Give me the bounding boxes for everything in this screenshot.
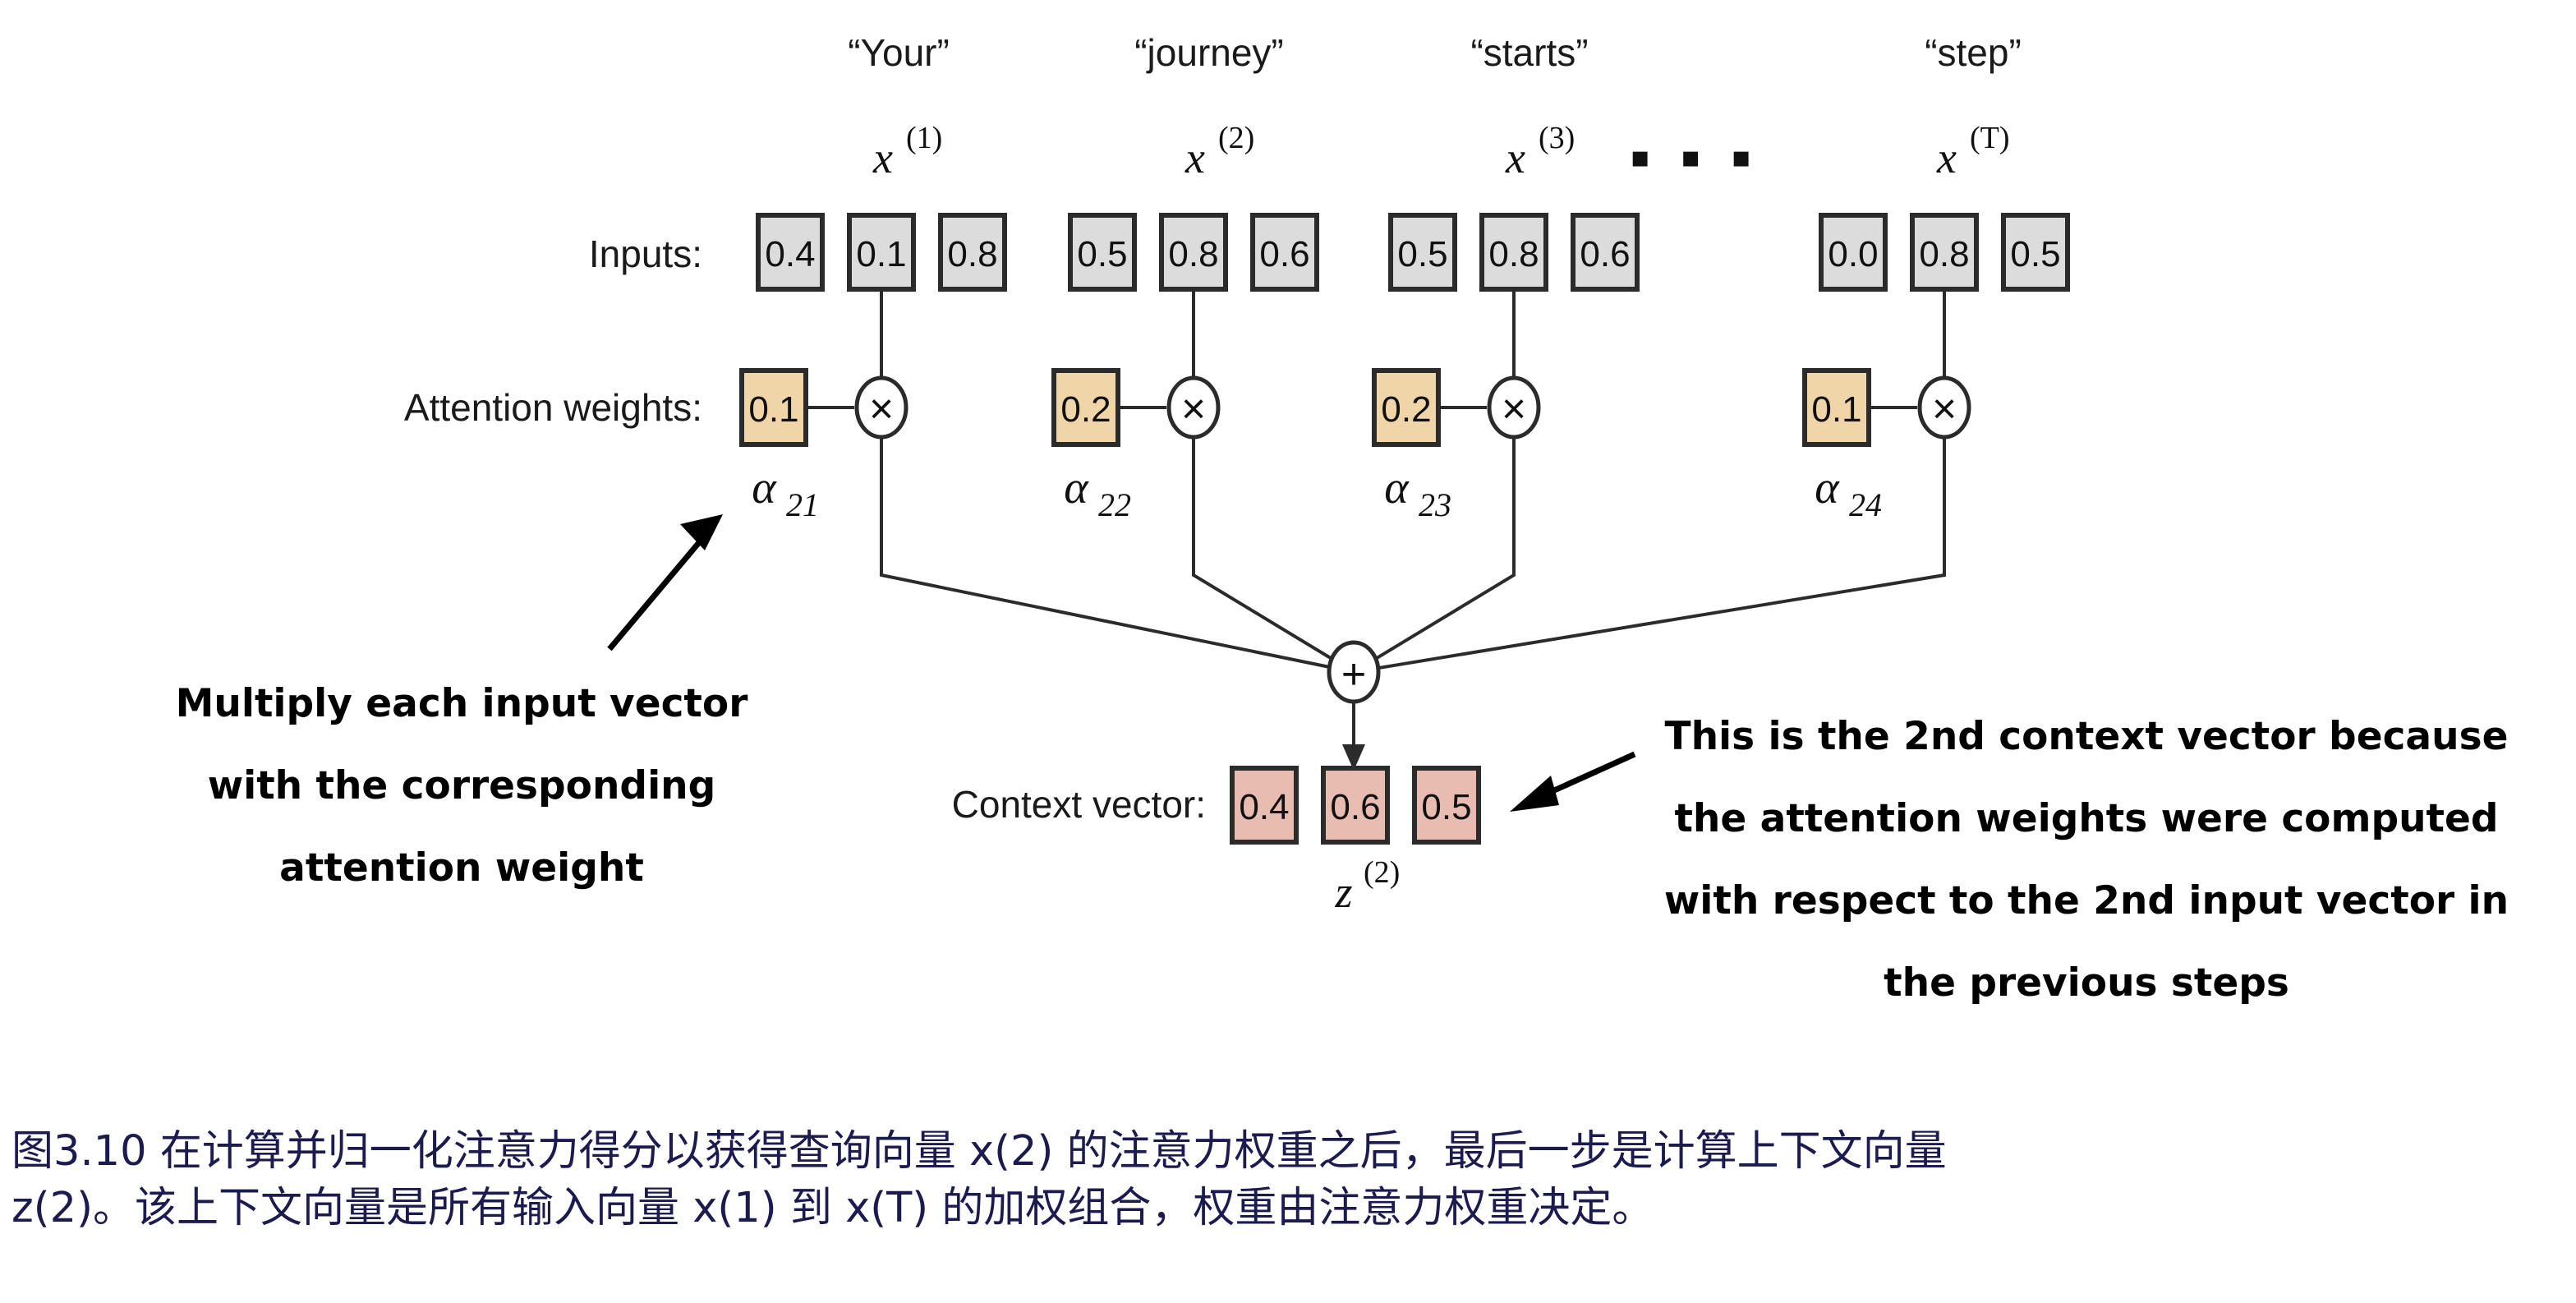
figure-caption: 图3.10 在计算并归一化注意力得分以获得查询向量 x(2) 的注意力权重之后，… [11, 1124, 2566, 1237]
annotation-left-line-2: with the corresponding [208, 763, 716, 808]
token-word-3: “starts” [1470, 31, 1588, 74]
sum-node: + [1329, 642, 1378, 702]
context-symbol-sup: (2) [1364, 855, 1400, 890]
context-cell-value: 0.5 [1421, 787, 1471, 827]
token-symbol-4: x (T) [1936, 121, 2010, 182]
token-symbol-letter-2: x [1184, 133, 1205, 182]
alpha-subscript: 24 [1849, 486, 1882, 523]
annotation-right-line-2: the attention weights were computed [1674, 796, 2498, 841]
caption-line-1: 图3.10 在计算并归一化注意力得分以获得查询向量 x(2) 的注意力权重之后，… [11, 1124, 2566, 1181]
attention-weight-value: 0.2 [1060, 389, 1111, 430]
attention-weight-value: 0.2 [1381, 389, 1431, 430]
token-symbol-letter-3: x [1505, 133, 1525, 182]
context-cell-value: 0.4 [1239, 787, 1289, 827]
alpha-symbol: α [752, 463, 777, 513]
multiply-symbol: × [1502, 385, 1526, 433]
token-word-4: “step” [1925, 31, 2022, 74]
input-vector-3: 0.5 0.8 0.6 [1391, 215, 1637, 289]
input-cell-value: 0.8 [1168, 234, 1218, 274]
figure-container: “Your” “journey” “starts” “step” x (1) x… [0, 0, 2576, 1303]
alpha-subscript: 21 [786, 486, 819, 523]
context-vector-row-label: Context vector: [952, 783, 1206, 826]
input-cell-value: 0.5 [1077, 234, 1127, 274]
arrow-left-shaft [609, 536, 705, 649]
input-cell-value: 0.8 [1488, 234, 1539, 274]
multiply-symbol: × [1181, 385, 1206, 433]
arrow-left-head [680, 514, 723, 550]
input-cell-value: 0.8 [1919, 234, 1969, 274]
annotation-right: This is the 2nd context vector because t… [1664, 714, 2509, 1006]
alpha-subscript: 22 [1098, 486, 1131, 523]
input-cell-value: 0.8 [947, 234, 997, 274]
input-cell-value: 0.6 [1580, 234, 1630, 274]
input-vector-2: 0.5 0.8 0.6 [1070, 215, 1317, 289]
caption-line-2: z(2)。该上下文向量是所有输入向量 x(1) 到 x(T) 的加权组合，权重由… [11, 1181, 2566, 1237]
annotation-left: Multiply each input vector with the corr… [176, 681, 749, 891]
token-symbol-1: x (1) [872, 121, 942, 182]
token-symbol-2: x (2) [1184, 121, 1254, 182]
attention-weights-row-label: Attention weights: [404, 386, 702, 429]
context-symbol-letter: z [1334, 868, 1352, 917]
sum-symbol: + [1341, 651, 1366, 698]
line-mult-to-sum-3 [1354, 432, 1514, 672]
annotation-right-line-3: with respect to the 2nd input vector in [1664, 878, 2509, 923]
input-cell-value: 0.5 [2010, 234, 2060, 274]
token-word-1: “Your” [848, 31, 950, 74]
token-symbol-3: x (3) [1505, 121, 1575, 182]
line-mult-to-sum-1 [881, 432, 1354, 672]
annotation-right-line-4: the previous steps [1884, 960, 2289, 1006]
arrow-right-head [1510, 776, 1559, 812]
line-mult-to-sum-2 [1194, 432, 1354, 672]
input-cell-value: 0.6 [1259, 234, 1309, 274]
ellipsis: ▪ ▪ ▪ [1630, 125, 1759, 191]
token-symbol-sup-3: (3) [1539, 121, 1575, 155]
line-mult-to-sum-4 [1354, 432, 1944, 672]
alpha-symbol: α [1815, 463, 1840, 513]
input-vector-1: 0.4 0.1 0.8 [758, 215, 1005, 289]
context-vector-symbol: z (2) [1334, 855, 1400, 917]
annotation-right-line-1: This is the 2nd context vector because [1665, 714, 2509, 759]
alpha-symbol: α [1384, 463, 1410, 513]
token-word-2: “journey” [1134, 31, 1284, 74]
alpha-symbol: α [1064, 463, 1089, 513]
connector-lines [806, 289, 1944, 771]
input-vector-4: 0.0 0.8 0.5 [1821, 215, 2068, 289]
input-cell-value: 0.1 [856, 234, 906, 274]
attention-weight-value: 0.1 [748, 389, 798, 430]
input-cell-value: 0.4 [765, 234, 815, 274]
context-cell-value: 0.6 [1330, 787, 1380, 827]
input-cell-value: 0.5 [1397, 234, 1447, 274]
annotation-left-line-1: Multiply each input vector [176, 681, 749, 726]
alpha-subscript: 23 [1419, 486, 1451, 523]
token-symbol-sup-4: (T) [1970, 121, 2010, 155]
attention-weight-value: 0.1 [1811, 389, 1861, 430]
multiply-symbol: × [869, 385, 894, 433]
context-vector: 0.4 0.6 0.5 [1232, 768, 1479, 842]
attention-diagram: “Your” “journey” “starts” “step” x (1) x… [0, 0, 2576, 1303]
input-cell-value: 0.0 [1828, 234, 1878, 274]
token-symbol-sup-2: (2) [1218, 121, 1254, 155]
multiply-symbol: × [1932, 385, 1957, 433]
token-symbol-letter-1: x [872, 133, 893, 182]
inputs-row-label: Inputs: [589, 233, 702, 275]
token-symbol-letter-4: x [1936, 133, 1957, 182]
token-symbol-sup-1: (1) [906, 121, 942, 155]
annotation-left-line-3: attention weight [279, 845, 644, 891]
